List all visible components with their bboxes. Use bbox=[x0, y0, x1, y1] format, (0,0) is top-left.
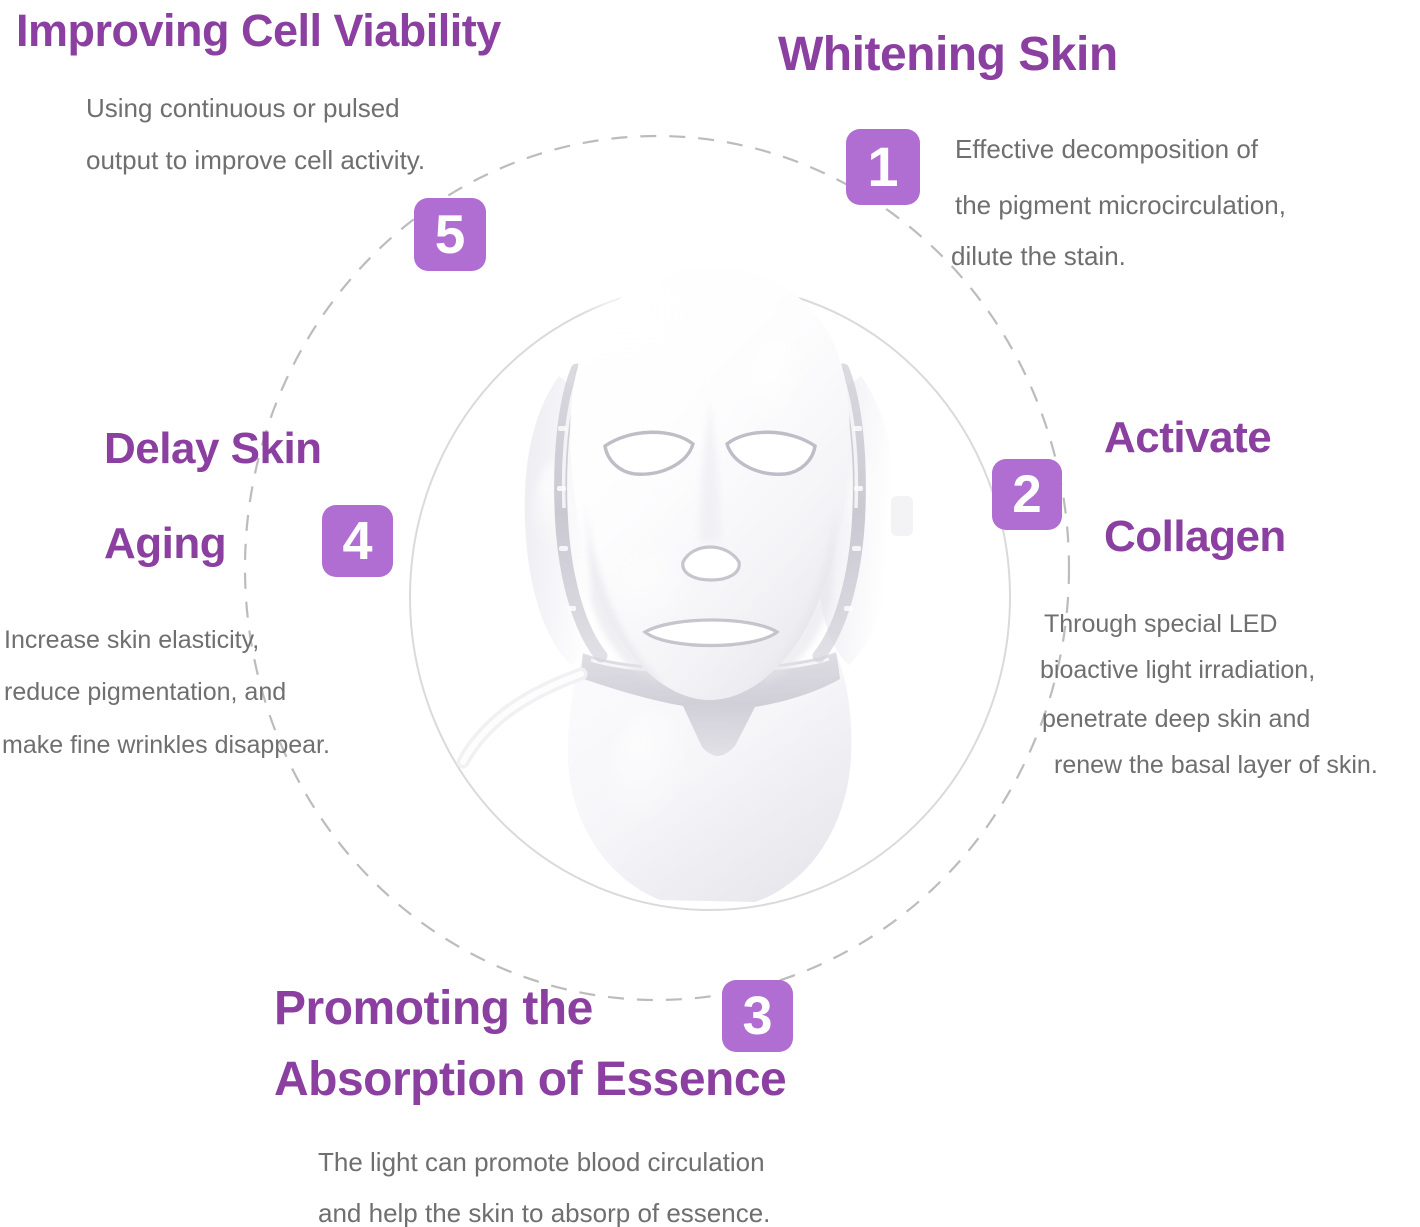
benefit-2-number-badge: 2 bbox=[992, 459, 1062, 530]
benefit-3-body-line-2: and help the skin to absorp of essence. bbox=[318, 1187, 770, 1227]
side-connector-tab bbox=[891, 496, 913, 536]
led-face-mask-illustration bbox=[455, 250, 965, 910]
benefit-2-body-line-1: Through special LED bbox=[1044, 599, 1277, 650]
benefit-2-body-line-3: penetrate deep skin and bbox=[1042, 694, 1310, 745]
benefit-3-title-line-1: Promoting the bbox=[274, 981, 593, 1038]
mask-face-shell bbox=[570, 268, 850, 700]
benefit-3-body-line-1: The light can promote blood circulation bbox=[318, 1136, 765, 1189]
benefit-4-number-badge: 4 bbox=[322, 505, 393, 577]
benefit-4-body-line-2: reduce pigmentation, and bbox=[4, 667, 286, 718]
benefit-2-body-line-4: renew the basal layer of skin. bbox=[1054, 740, 1378, 791]
benefit-1-body-line-2: the pigment microcirculation, bbox=[955, 179, 1286, 232]
benefit-1-number-badge: 1 bbox=[846, 129, 920, 205]
benefit-5-title: Improving Cell Viability bbox=[16, 4, 501, 57]
power-cable bbox=[463, 674, 581, 762]
benefit-4-body-line-1: Increase skin elasticity, bbox=[4, 615, 259, 666]
benefits-infographic: Improving Cell Viability Using continuou… bbox=[0, 0, 1420, 1227]
benefit-1-title: Whitening Skin bbox=[778, 27, 1118, 84]
benefit-4-title-line-2: Aging bbox=[104, 518, 226, 570]
benefit-4-title-line-1: Delay Skin bbox=[104, 423, 322, 475]
benefit-3-title-line-2: Absorption of Essence bbox=[274, 1052, 786, 1109]
nose-opening bbox=[683, 547, 739, 580]
benefit-1-body-line-3: dilute the stain. bbox=[951, 230, 1126, 283]
benefit-3-number-badge: 3 bbox=[722, 980, 793, 1052]
benefit-5-number-badge: 5 bbox=[414, 198, 486, 271]
mouth-opening bbox=[645, 620, 777, 646]
benefit-2-title-line-2: Collagen bbox=[1104, 511, 1286, 563]
benefit-2-body-line-2: bioactive light irradiation, bbox=[1040, 645, 1315, 696]
benefit-1-body-line-1: Effective decomposition of bbox=[955, 123, 1258, 176]
benefit-5-body-line-2: output to improve cell activity. bbox=[86, 134, 425, 187]
benefit-2-title-line-1: Activate bbox=[1104, 412, 1271, 464]
benefit-5-body-line-1: Using continuous or pulsed bbox=[86, 82, 400, 135]
benefit-4-body-line-3: make fine wrinkles disappear. bbox=[2, 720, 330, 771]
